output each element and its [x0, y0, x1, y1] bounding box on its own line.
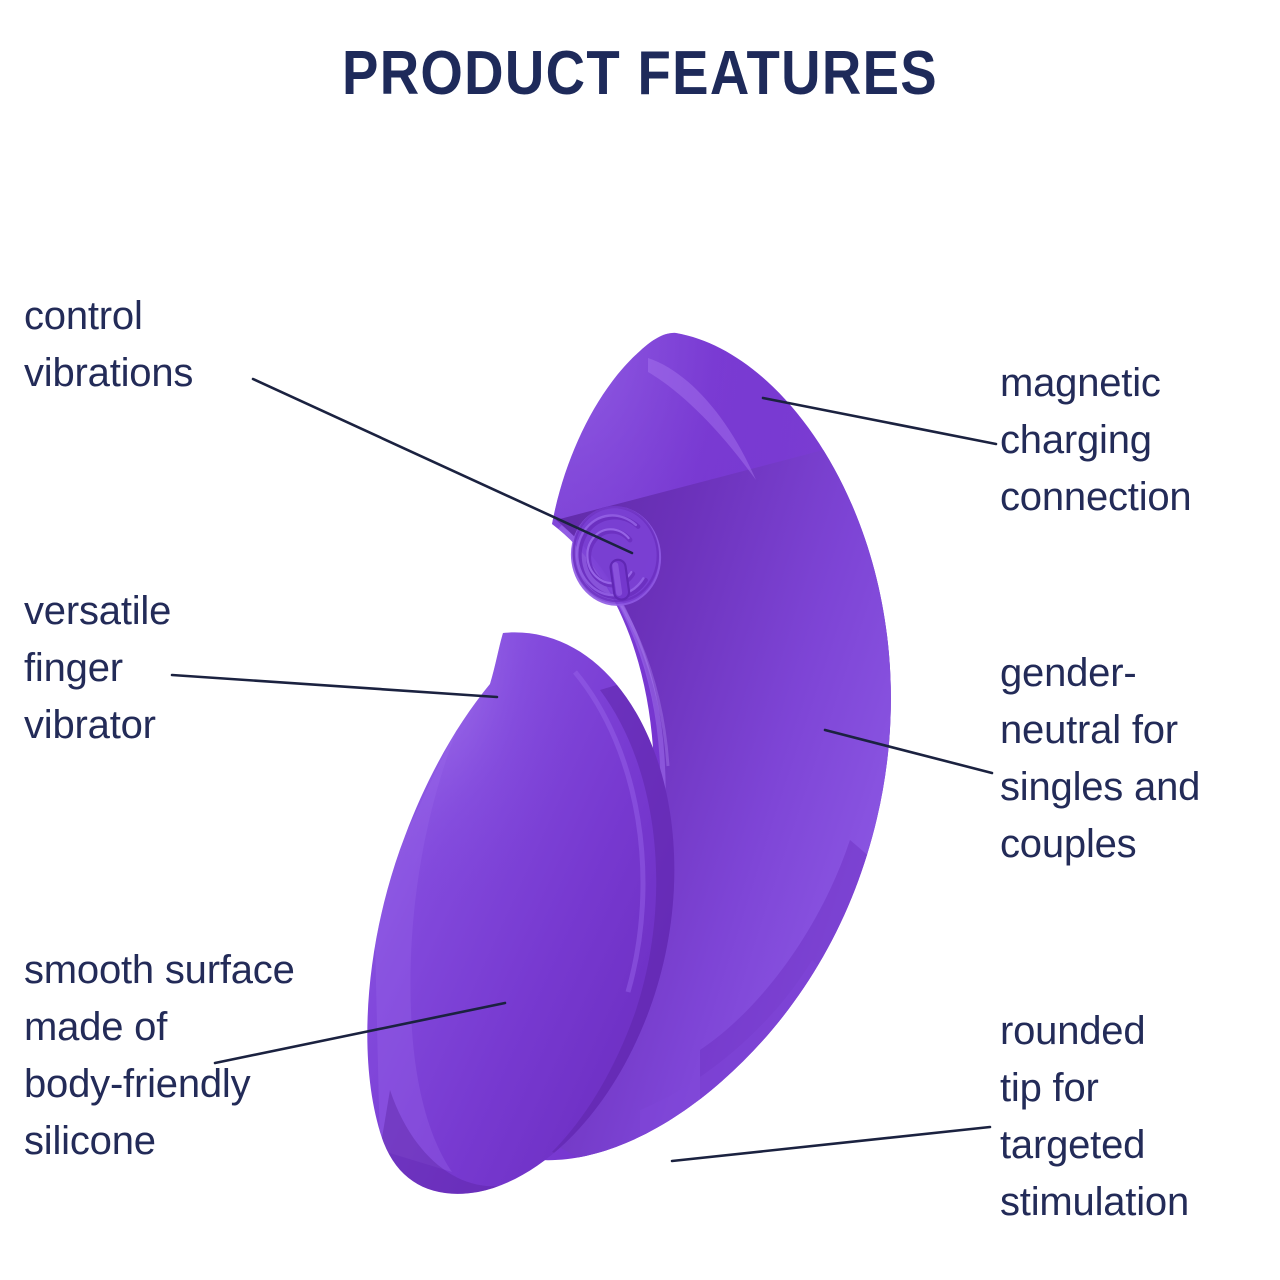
callout-smooth-surface: smooth surface made of body-friendly sil…: [24, 942, 404, 1170]
callout-control-vibrations: control vibrations: [24, 288, 354, 402]
callout-gender-neutral: gender- neutral for singles and couples: [1000, 645, 1275, 873]
callout-versatile-finger-vibrator: versatile finger vibrator: [24, 583, 354, 754]
leader-rounded-tip: [672, 1127, 990, 1161]
product-features-page: PRODUCT FEATURES: [0, 0, 1280, 1280]
callout-rounded-tip: rounded tip for targeted stimulation: [1000, 1003, 1280, 1231]
callout-magnetic-charging: magnetic charging connection: [1000, 355, 1275, 526]
